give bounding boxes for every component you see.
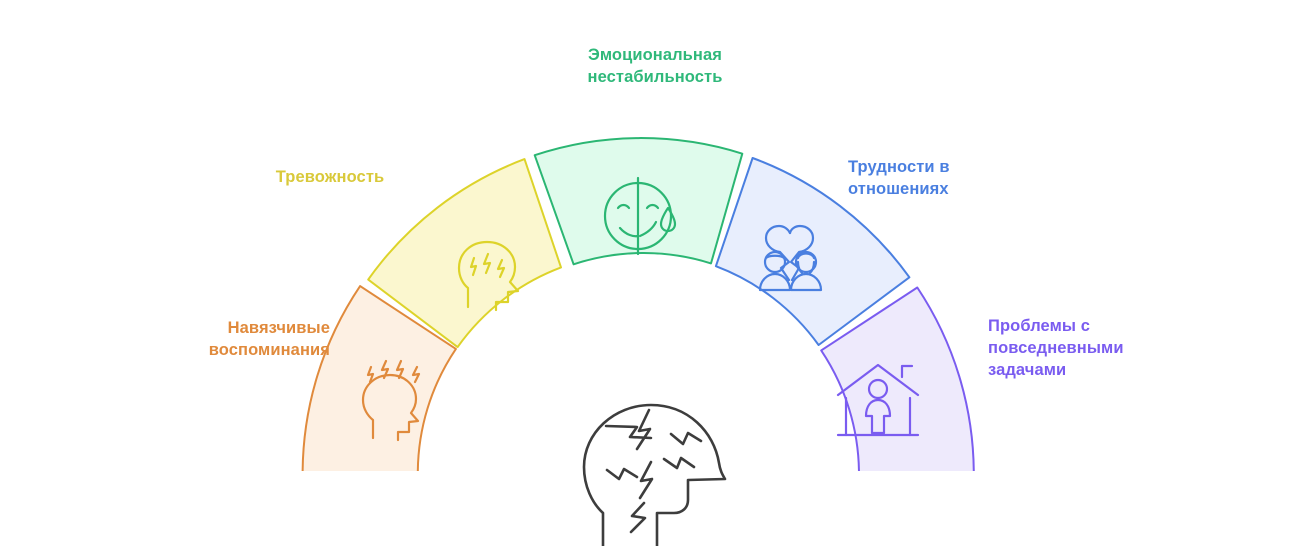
label-relations-line2: отношениях: [848, 179, 1048, 201]
segment-emotional[interactable]: [535, 138, 743, 264]
label-emotional-line1: Эмоциональная: [540, 45, 770, 67]
label-daily-line1: Проблемы с: [988, 316, 1218, 338]
label-anxiety: Тревожность: [230, 167, 430, 189]
diagram-canvas: Эмоциональная нестабильность Тревожность…: [0, 0, 1300, 546]
label-relations: Трудности в отношениях: [848, 157, 1048, 201]
label-anxiety-line1: Тревожность: [230, 167, 430, 189]
label-daily-line2: повседневными: [988, 338, 1218, 360]
head-with-static-icon: [584, 405, 725, 546]
label-intrusive-line2: воспоминания: [130, 340, 330, 362]
label-emotional-line2: нестабильность: [540, 67, 770, 89]
label-daily-line3: задачами: [988, 360, 1218, 382]
label-intrusive-line1: Навязчивые: [130, 318, 330, 340]
label-daily: Проблемы с повседневными задачами: [988, 316, 1218, 382]
label-relations-line1: Трудности в: [848, 157, 1048, 179]
label-intrusive: Навязчивые воспоминания: [130, 318, 330, 362]
label-emotional: Эмоциональная нестабильность: [540, 45, 770, 89]
